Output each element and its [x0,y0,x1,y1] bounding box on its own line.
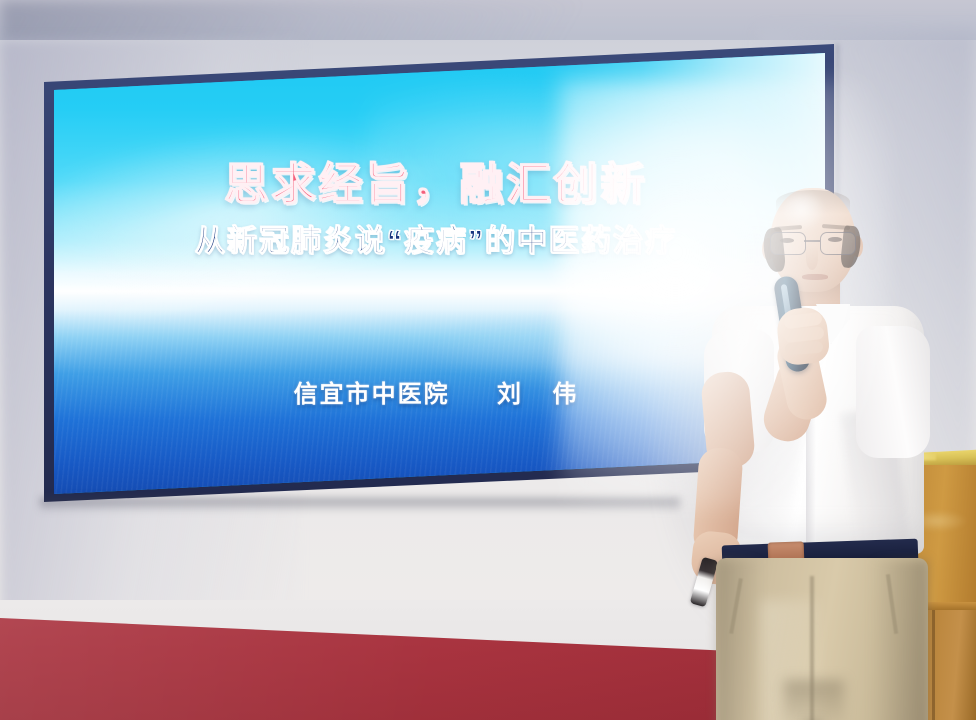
shirt-sleeve-right [856,326,930,458]
nose [806,246,818,270]
speaker-person [660,180,976,720]
display-drop-shadow [40,498,680,512]
presenter-surname: 刘 [497,381,523,408]
lens-right [820,232,856,255]
lecture-photo-scene: 思求经旨，融汇创新 从新冠肺炎说“疫病”的中医药治疗 信宜市中医院 刘 伟 [0,0,976,720]
trousers-shading-right [870,560,928,720]
mouth [802,274,828,280]
presenter-organization: 信宜市中医院 [294,381,450,408]
glasses-bridge [804,240,820,242]
presenter-given-name: 伟 [552,381,578,408]
lens-left [770,232,806,255]
trousers-crease [784,680,844,720]
